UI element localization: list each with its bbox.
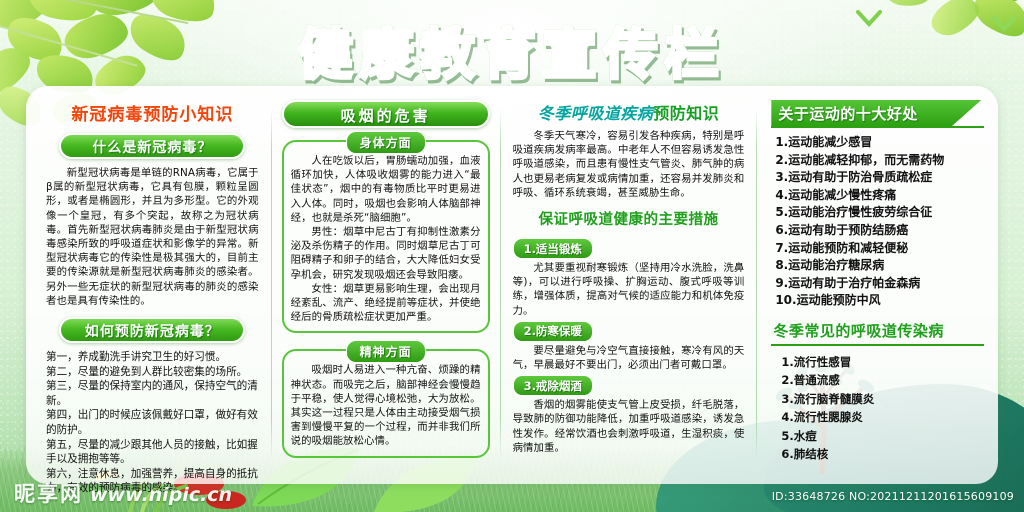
watermark: 昵享网 www.nipic.cn	[14, 478, 232, 508]
col3-measure-text-3: 香烟的烟雾能使支气管上皮受损，纤毛脱落，导致肺的防御功能降低，加重呼吸道感染，诱…	[513, 398, 745, 455]
col2-label-mental: 精神方面	[346, 340, 426, 363]
list-item: 9.运动有助于治疗帕金森病	[775, 275, 984, 293]
col2-physical-para-3: 女性：烟草更易影响生理，会出现月经紊乱、流产、绝经提前等症状，并使绝经后的骨质疏…	[291, 282, 481, 325]
col2-physical-para-2: 男性：烟草中尼古丁有抑制性激素分泌及杀伤精子的作用。同时烟草尼古丁可阻碍精子和卵…	[291, 225, 481, 282]
col3-intro: 冬季天气寒冷，容易引发各种疾病，特别是呼吸道疾病发病率最高。中老年人不但容易诱发…	[513, 129, 745, 200]
col3-measure-text-2: 要尽量避免与冷空气直接接触，寒冷有风的天气，早晨最好不要出门，必须出门者可戴口罩…	[513, 344, 745, 372]
col3-tag-2: 2.防寒保暖	[513, 321, 593, 342]
col2-banner-smoking-harm[interactable]: 吸烟的危害	[282, 100, 490, 128]
list-item: 第二，尽量的避免到人群比较密集的场所。	[46, 365, 259, 380]
column-winter-respiratory: 冬季呼吸道疾病预防知识 冬季天气寒冷，容易引发各种疾病，特别是呼吸道疾病发病率最…	[505, 94, 753, 478]
list-item: 2.普通流感	[781, 371, 984, 389]
list-item: 3.运动有助于防治骨质疏松症	[775, 169, 984, 187]
col3-tag-1: 1.适当锻炼	[513, 238, 593, 259]
col1-pill-what-is-covid[interactable]: 什么是新冠病毒？	[59, 133, 245, 159]
col1-pill-how-to-prevent[interactable]: 如何预防新冠病毒？	[59, 317, 245, 343]
poster-stage: 健康教育宣传栏 新冠病毒预防小知识 什么是新冠病毒？ 新型冠状病毒是单链的RNA…	[0, 0, 1024, 512]
column-smoking-harm: 吸烟的危害 身体方面 人在吃饭以后，胃肠蠕动加强，血液循环加快，人体吸收烟雾的能…	[276, 94, 496, 478]
list-item: 第四，出门的时候应该佩戴好口罩，做好有效的防护。	[46, 408, 259, 437]
list-item: 10.运动能预防中风	[775, 292, 984, 310]
col3-measure-1: 1.适当锻炼 尤其要重视耐寒锻炼（坚持用冷水洗脸，洗鼻等)，可以进行呼吸操、扩胸…	[513, 235, 745, 318]
col2-label-physical: 身体方面	[346, 131, 426, 154]
col3-heading-cyan: 冬季呼吸道疾病	[538, 104, 654, 123]
watermark-cn: 昵享网	[14, 478, 83, 508]
col3-measure-3: 3.戒除烟酒 香烟的烟雾能使支气管上皮受损，纤毛脱落，导致肺的防御功能降低，加重…	[513, 372, 745, 455]
col2-mental-para-1: 吸烟时人易进入一种亢奋、烦躁的精神状态。而吸完之后，脑部神经会慢慢趋于平稳，使人…	[291, 363, 481, 448]
column-exercise-benefits: 关于运动的十大好处 1.运动能减少感冒 2.运动能减轻抑郁，而无需药物 3.运动…	[761, 94, 988, 478]
list-item: 5.水痘	[781, 427, 984, 445]
col3-tag-3: 3.戒除烟酒	[513, 375, 593, 396]
list-item: 6.肺结核	[781, 445, 984, 463]
col4-heading-1-ribbon: 关于运动的十大好处	[771, 100, 984, 126]
watermark-url: www.nipic.cn	[90, 484, 232, 506]
list-item: 第三，尽量的保持室内的通风，保持空气的清新。	[46, 379, 259, 408]
col3-measure-text-1: 尤其要重视耐寒锻炼（坚持用冷水洗脸，洗鼻等)，可以进行呼吸操、扩胸运动、腹式呼吸…	[513, 261, 745, 318]
col2-mental-section: 精神方面 吸烟时人易进入一种亢奋、烦躁的精神状态。而吸完之后，脑部神经会慢慢趋于…	[282, 349, 490, 457]
list-item: 1.运动能减少感冒	[775, 134, 984, 152]
col4-heading-1: 关于运动的十大好处	[771, 103, 918, 124]
col1-paragraph: 新型冠状病毒是单链的RNA病毒，它属于β属的新型冠状病毒，它具有包膜，颗粒呈圆形…	[46, 166, 259, 308]
list-item: 2.运动能减轻抑郁，而无需药物	[775, 152, 984, 170]
list-item: 8.运动能治疗糖尿病	[775, 257, 984, 275]
content-board: 新冠病毒预防小知识 什么是新冠病毒？ 新型冠状病毒是单链的RNA病毒，它属于β属…	[26, 86, 998, 484]
page-title: 健康教育宣传栏	[299, 10, 726, 89]
column-divider-3	[756, 108, 757, 460]
list-item: 4.流行性腮腺炎	[781, 408, 984, 426]
ribbon-underline	[771, 126, 984, 128]
col2-physical-para-1: 人在吃饭以后，胃肠蠕动加强，血液循环加快，人体吸收烟雾的能力进入“最佳状态”，烟…	[291, 154, 481, 225]
col3-heading-green: 预防知识	[653, 104, 719, 123]
col3-subheading: 保证呼吸道健康的主要措施	[513, 208, 745, 229]
col4-heading-2: 冬季常见的呼吸道传染病	[773, 320, 984, 341]
column-covid-prevention: 新冠病毒预防小知识 什么是新冠病毒？ 新型冠状病毒是单链的RNA病毒，它属于β属…	[36, 94, 267, 478]
col1-heading: 新冠病毒预防小知识	[46, 100, 259, 125]
col4-heading-2-rule	[771, 344, 984, 346]
col3-measure-2: 2.防寒保暖 要尽量避免与冷空气直接接触，寒冷有风的天气，早晨最好不要出门，必须…	[513, 318, 745, 372]
list-item: 第一，养成勤洗手讲究卫生的好习惯。	[46, 350, 259, 365]
image-id-text: ID:33648726 NO:20211211201615609109	[772, 490, 1014, 503]
list-item: 6.运动有助于预防结肠癌	[775, 222, 984, 240]
column-divider-1	[271, 108, 272, 460]
poster-title-wrap: 健康教育宣传栏	[0, 12, 1024, 86]
column-divider-2	[500, 108, 501, 460]
list-item: 3.流行脑脊髓膜炎	[781, 390, 984, 408]
list-item: 4.运动能减少慢性疼痛	[775, 187, 984, 205]
list-item: 5.运动能治疗慢性疲劳综合征	[775, 204, 984, 222]
list-item: 1.流行性感冒	[781, 353, 984, 371]
col2-body-section: 身体方面 人在吃饭以后，胃肠蠕动加强，血液循环加快，人体吸收烟雾的能力进入“最佳…	[282, 140, 490, 333]
list-item: 第五，尽量的减少跟其他人员的接触，比如握手以及拥抱等等。	[46, 438, 259, 467]
col3-heading: 冬季呼吸道疾病预防知识	[513, 100, 745, 124]
list-item: 7.运动能预防和减轻便秘	[775, 240, 984, 258]
